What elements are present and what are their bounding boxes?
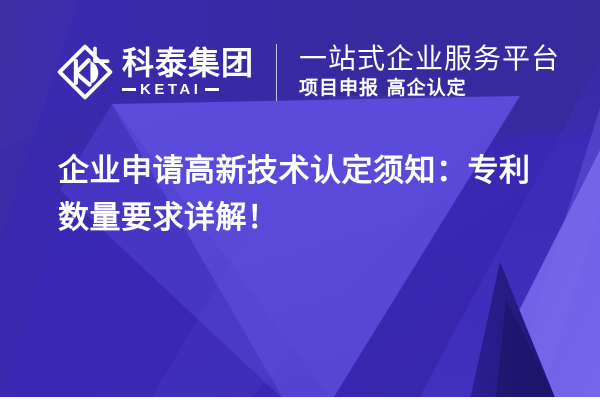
promo-banner: 科泰集团 KETAI 一站式企业服务平台 项目申报 高企认定 企业申请高新技术认… — [0, 0, 600, 400]
banner-header: 科泰集团 KETAI 一站式企业服务平台 项目申报 高企认定 — [56, 36, 560, 108]
headline-title: 企业申请高新技术认定须知：专利数量要求详解！ — [58, 148, 558, 242]
wordmark-dash-right — [205, 88, 219, 91]
brand-name-cn: 科泰集团 — [122, 47, 254, 81]
tagline-secondary: 项目申报 高企认定 — [299, 77, 560, 101]
brand-logo: 科泰集团 KETAI — [56, 36, 254, 108]
tagline-block: 一站式企业服务平台 项目申报 高企认定 — [299, 40, 560, 104]
tagline-primary: 一站式企业服务平台 — [299, 43, 560, 74]
brand-name-en: KETAI — [140, 82, 201, 97]
wordmark-dash-left — [122, 88, 136, 91]
ketai-monogram-kd-icon — [56, 43, 114, 101]
brand-wordmark: 科泰集团 KETAI — [122, 43, 254, 101]
brand-name-en-row: KETAI — [122, 82, 254, 97]
header-divider — [276, 44, 277, 101]
